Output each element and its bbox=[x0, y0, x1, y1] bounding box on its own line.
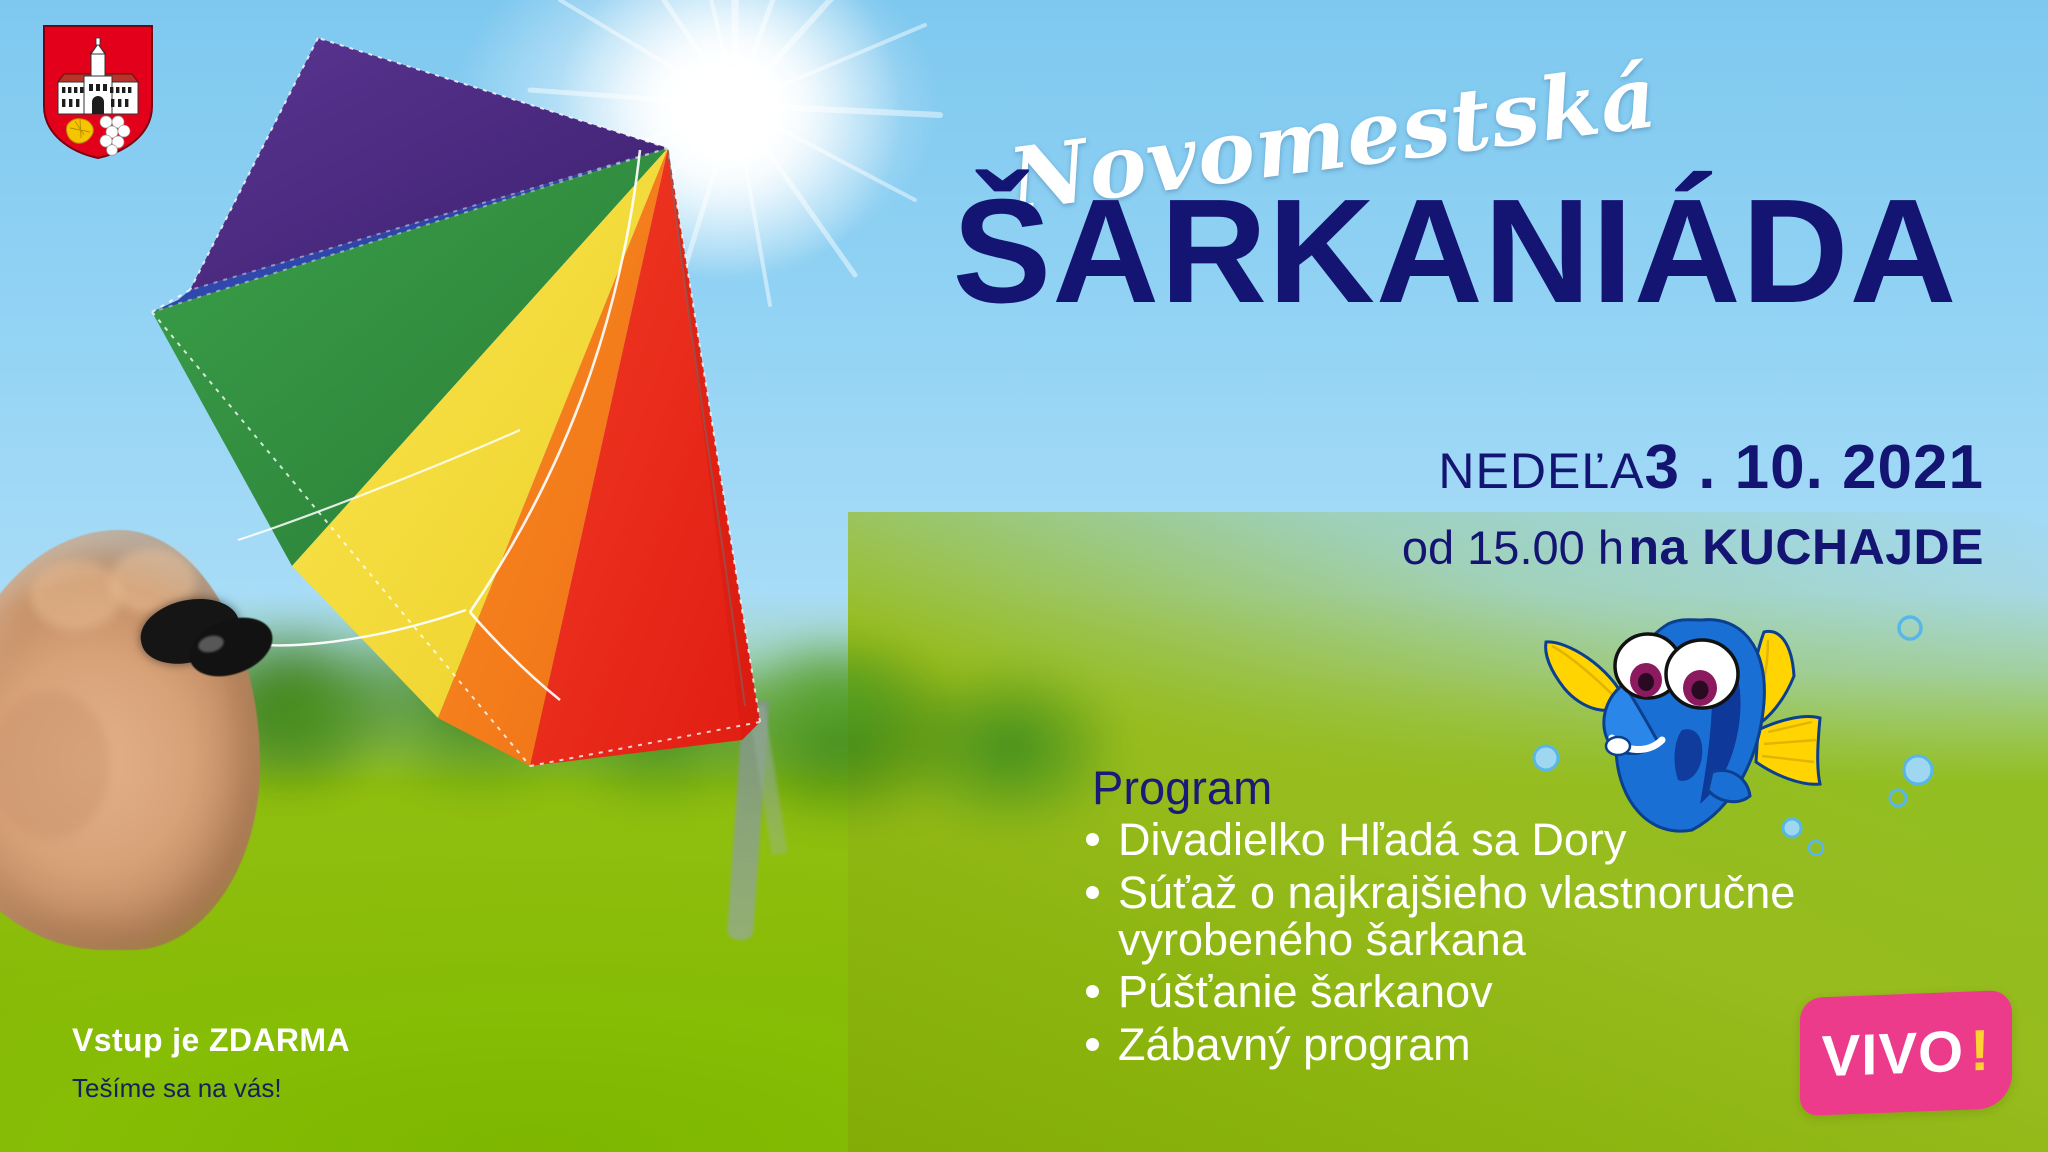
bullet-icon bbox=[1086, 833, 1099, 846]
footer-section: Vstup je ZDARMA Tešíme sa na vás! bbox=[72, 1022, 350, 1104]
vivo-wordmark: VIVO bbox=[1822, 1017, 1965, 1089]
event-day-of-week: NEDEĽA bbox=[1438, 443, 1644, 499]
welcome-text: Tešíme sa na vás! bbox=[72, 1073, 350, 1104]
bullet-icon bbox=[1086, 886, 1099, 899]
free-entry-text: Vstup je ZDARMA bbox=[72, 1022, 350, 1059]
list-item: Zábavný program bbox=[1080, 1022, 1880, 1069]
vivo-logo-text: VIVO! bbox=[1800, 990, 2012, 1116]
list-item: Divadielko Hľadá sa Dory bbox=[1080, 817, 1880, 864]
city-coat-of-arms bbox=[40, 22, 156, 160]
program-item-line1: Zábavný program bbox=[1118, 1019, 1471, 1070]
bullet-icon bbox=[1086, 1038, 1099, 1051]
program-title: Program bbox=[1092, 760, 1880, 815]
poster-canvas: Novomestská ŠARKANIÁDA NEDEĽA3 . 10. 202… bbox=[0, 0, 2048, 1152]
bullet-icon bbox=[1086, 985, 1099, 998]
page-title: ŠARKANIÁDA bbox=[890, 178, 2020, 326]
program-item-line1: Súťaž o najkrajšieho vlastnoručne bbox=[1118, 867, 1795, 918]
list-item: Púšťanie šarkanov bbox=[1080, 969, 1880, 1016]
event-date: NEDEĽA3 . 10. 2021 bbox=[1438, 432, 1984, 503]
program-item-line1: Divadielko Hľadá sa Dory bbox=[1118, 814, 1626, 865]
knuckle-shade bbox=[30, 560, 122, 630]
event-time-venue: od 15.00 h na KUCHAJDE bbox=[1402, 518, 1984, 576]
vivo-exclamation: ! bbox=[1970, 1016, 1990, 1084]
event-date-value: 3 . 10. 2021 bbox=[1645, 433, 1985, 502]
program-item-line2: vyrobeného šarkana bbox=[1118, 917, 1880, 964]
program-section: Program Divadielko Hľadá sa Dory Súťaž o… bbox=[1080, 760, 1880, 1075]
program-list: Divadielko Hľadá sa Dory Súťaž o najkraj… bbox=[1080, 817, 1880, 1069]
list-item: Súťaž o najkrajšieho vlastnoručne vyrobe… bbox=[1080, 870, 1880, 964]
vivo-logo[interactable]: VIVO! bbox=[1800, 994, 2012, 1112]
program-item-line1: Púšťanie šarkanov bbox=[1118, 966, 1493, 1017]
event-venue: na KUCHAJDE bbox=[1628, 519, 1984, 575]
event-time: od 15.00 h bbox=[1402, 521, 1624, 574]
